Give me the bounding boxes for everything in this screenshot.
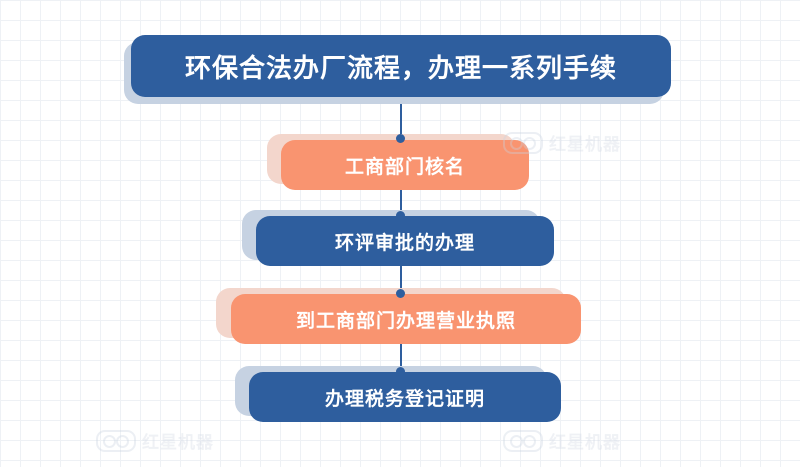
brand-logo-icon	[96, 430, 136, 452]
flowchart-step-node-3: 到工商部门办理营业执照	[231, 294, 581, 344]
flowchart-step-node-4: 办理税务登记证明	[249, 372, 561, 422]
watermark-bottom-left: 红星机器	[96, 428, 214, 453]
connector-dot-3	[396, 289, 405, 298]
connector-dot-2	[396, 211, 405, 220]
watermark-bottom-right: 红星机器	[503, 428, 621, 453]
connector-dot-4	[396, 367, 405, 376]
brand-logo-icon	[503, 430, 543, 452]
flowchart-canvas: 环保合法办厂流程，办理一系列手续 工商部门核名 环评审批的办理 到工商部门办理营…	[0, 0, 800, 467]
flowchart-step-node-2: 环评审批的办理	[256, 216, 554, 266]
connector-dot-1	[396, 134, 405, 143]
watermark-text: 红星机器	[142, 428, 214, 453]
flowchart-step-node-1: 工商部门核名	[281, 140, 529, 190]
watermark-text: 红星机器	[549, 428, 621, 453]
flowchart-title-node: 环保合法办厂流程，办理一系列手续	[131, 35, 671, 97]
watermark-text: 红星机器	[549, 130, 621, 155]
